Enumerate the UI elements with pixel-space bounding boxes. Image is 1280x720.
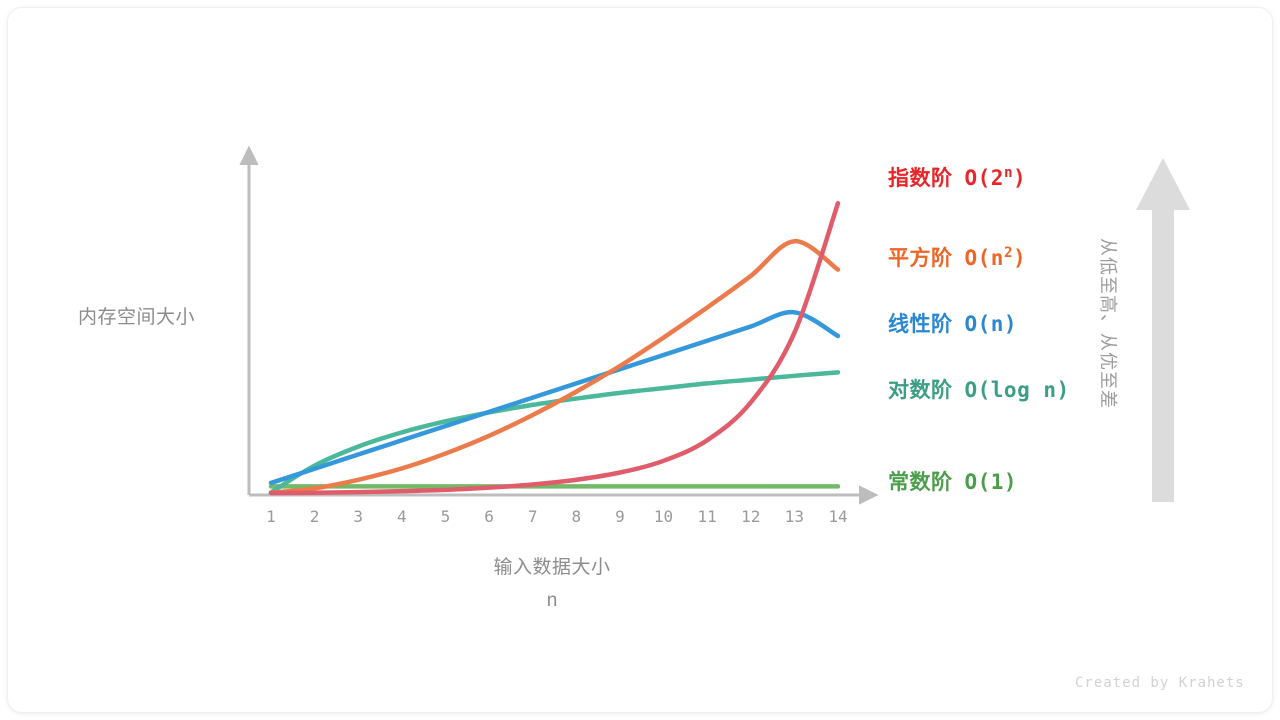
x-tick-12: 12 [736,507,766,526]
x-tick-9: 9 [605,507,635,526]
legend-notation-exponent: n [1004,165,1013,181]
legend-item-0[interactable]: 指数阶O(2n) [888,162,1026,192]
legend-notation-close: ) [1013,166,1026,190]
legend-notation-close: ) [1013,246,1026,270]
x-axis-label: 输入数据大小 [480,552,624,579]
legend-label-zh: 指数阶 [888,166,953,190]
ranking-arrow-label: 从低至高、从优至差 [1096,238,1122,438]
chart-series-group [271,203,838,493]
legend-notation-base: O(2 [965,166,1004,190]
legend-label-zh: 线性阶 [888,312,953,336]
legend-notation: O(n) [965,312,1018,336]
legend-label-zh: 常数阶 [888,470,953,494]
chart-stage: 内存空间大小 输入数据大小 n 1234567891011121314 指数阶O… [0,0,1280,720]
legend-notation: O(log n) [965,378,1070,402]
chart-canvas [0,0,1280,720]
x-tick-10: 10 [649,507,679,526]
x-tick-5: 5 [430,507,460,526]
x-tick-4: 4 [387,507,417,526]
legend-notation-base: O(n) [965,312,1018,336]
x-tick-1: 1 [256,507,286,526]
legend-label-zh: 平方阶 [888,246,953,270]
legend-notation-base: O(log n) [965,378,1070,402]
x-tick-13: 13 [779,507,809,526]
x-tick-14: 14 [823,507,853,526]
x-tick-11: 11 [692,507,722,526]
legend-item-2[interactable]: 线性阶O(n) [888,308,1017,338]
ranking-arrow [1136,158,1190,502]
x-tick-2: 2 [300,507,330,526]
x-tick-6: 6 [474,507,504,526]
legend-notation: O(1) [965,470,1018,494]
legend-notation-base: O(n [965,246,1004,270]
legend-notation: O(2n) [965,166,1027,190]
legend-item-3[interactable]: 对数阶O(log n) [888,374,1070,404]
legend-notation: O(n2) [965,246,1027,270]
x-axis-label-variable: n [480,590,624,612]
x-tick-3: 3 [343,507,373,526]
arrow-up-icon [1136,158,1190,502]
legend-item-4[interactable]: 常数阶O(1) [888,466,1017,496]
x-tick-7: 7 [518,507,548,526]
legend-notation-exponent: 2 [1004,245,1013,261]
legend-notation-base: O(1) [965,470,1018,494]
y-axis-label: 内存空间大小 [78,302,195,329]
credit-watermark: Created by Krahets [1075,675,1245,691]
x-tick-8: 8 [561,507,591,526]
legend-label-zh: 对数阶 [888,378,953,402]
legend-item-1[interactable]: 平方阶O(n2) [888,242,1026,272]
